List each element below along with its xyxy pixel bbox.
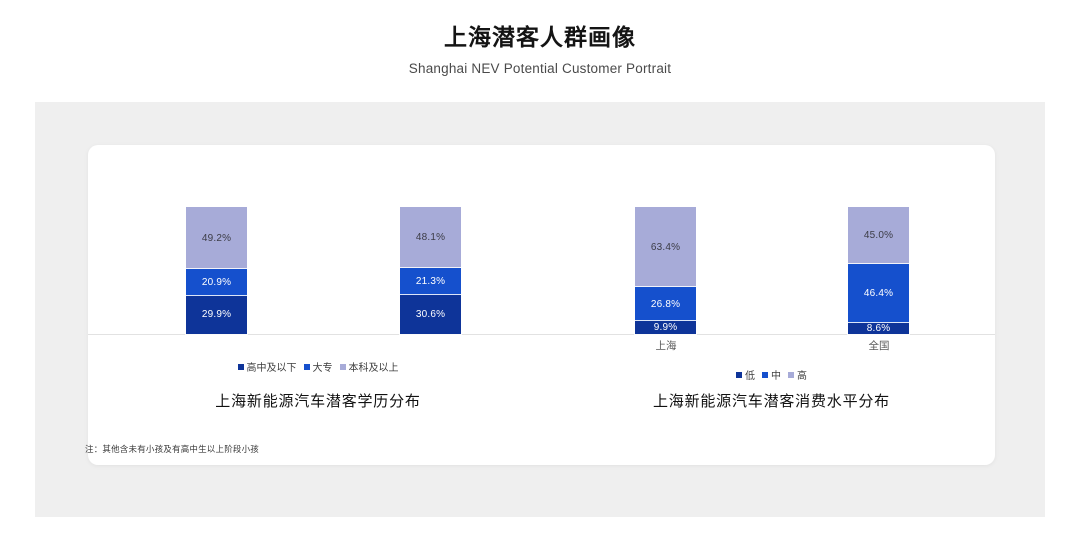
bar-segment-high: 49.2% [186,207,247,269]
legend-item[interactable]: 本科及以上 [340,359,399,374]
bar-segment-mid: 20.9% [186,269,247,296]
x-axis-line-education [88,334,548,335]
bar-segment-low: 8.6% [848,323,909,334]
stacked-bar[interactable]: 45.0% 46.4% 8.6% [848,207,909,334]
legend-item[interactable]: 高 [788,367,807,382]
bar-segment-mid: 46.4% [848,264,909,323]
bar-segment-mid: 21.3% [400,268,461,295]
legend-label: 大专 [313,359,333,374]
legend-item[interactable]: 低 [736,367,755,382]
legend-item[interactable]: 大专 [304,359,333,374]
bar-segment-low: 30.6% [400,295,461,334]
stacked-bar[interactable]: 49.2% 20.9% 29.9% [186,207,247,334]
legend-swatch-icon [238,364,244,370]
legend-swatch-icon [304,364,310,370]
page-title: 上海潜客人群画像 [0,24,1080,52]
bar-segment-high: 45.0% [848,207,909,264]
legend-label: 低 [745,367,755,382]
legend-consumption: 低 中 高 [548,367,995,382]
bar-segment-low: 29.9% [186,296,247,334]
legend-swatch-icon [736,372,742,378]
slide-page: 上海潜客人群画像 Shanghai NEV Potential Customer… [0,0,1080,547]
slide-header: 上海潜客人群画像 Shanghai NEV Potential Customer… [0,0,1080,76]
legend-label: 中 [771,367,781,382]
x-tick-label: 上海 [626,338,706,353]
chart-caption-consumption: 上海新能源汽车潜客消费水平分布 [548,390,995,411]
bar-segment-high: 63.4% [635,207,696,288]
legend-label: 本科及以上 [349,359,399,374]
legend-label: 高中及以下 [247,359,297,374]
charts-row: 49.2% 20.9% 29.9% 48.1% 21.3% 30.6% [88,145,995,465]
x-axis-line-consumption [548,334,995,335]
legend-item[interactable]: 中 [762,367,781,382]
chart-consumption-distribution: 63.4% 26.8% 9.9% 45.0% 46.4% 8.6% 上海 全国 [548,145,995,465]
bar-segment-high: 48.1% [400,207,461,268]
footnote: 注：其他含未有小孩及有高中生以上阶段小孩 [85,443,259,455]
chart-education-distribution: 49.2% 20.9% 29.9% 48.1% 21.3% 30.6% [88,145,548,465]
page-subtitle: Shanghai NEV Potential Customer Portrait [0,61,1080,76]
plot-area-consumption: 63.4% 26.8% 9.9% 45.0% 46.4% 8.6% [548,145,995,335]
legend-item[interactable]: 高中及以下 [238,359,297,374]
legend-education: 高中及以下 大专 本科及以上 [88,359,548,374]
charts-card: 49.2% 20.9% 29.9% 48.1% 21.3% 30.6% [88,145,995,465]
legend-swatch-icon [340,364,346,370]
x-tick-label: 全国 [839,338,919,353]
content-panel: 49.2% 20.9% 29.9% 48.1% 21.3% 30.6% [35,102,1045,517]
chart-caption-education: 上海新能源汽车潜客学历分布 [88,390,548,411]
stacked-bar[interactable]: 63.4% 26.8% 9.9% [635,207,696,334]
plot-area-education: 49.2% 20.9% 29.9% 48.1% 21.3% 30.6% [88,145,548,335]
legend-swatch-icon [762,372,768,378]
bar-segment-low: 9.9% [635,321,696,334]
stacked-bar[interactable]: 48.1% 21.3% 30.6% [400,207,461,334]
legend-swatch-icon [788,372,794,378]
legend-label: 高 [797,367,807,382]
bar-segment-mid: 26.8% [635,287,696,321]
